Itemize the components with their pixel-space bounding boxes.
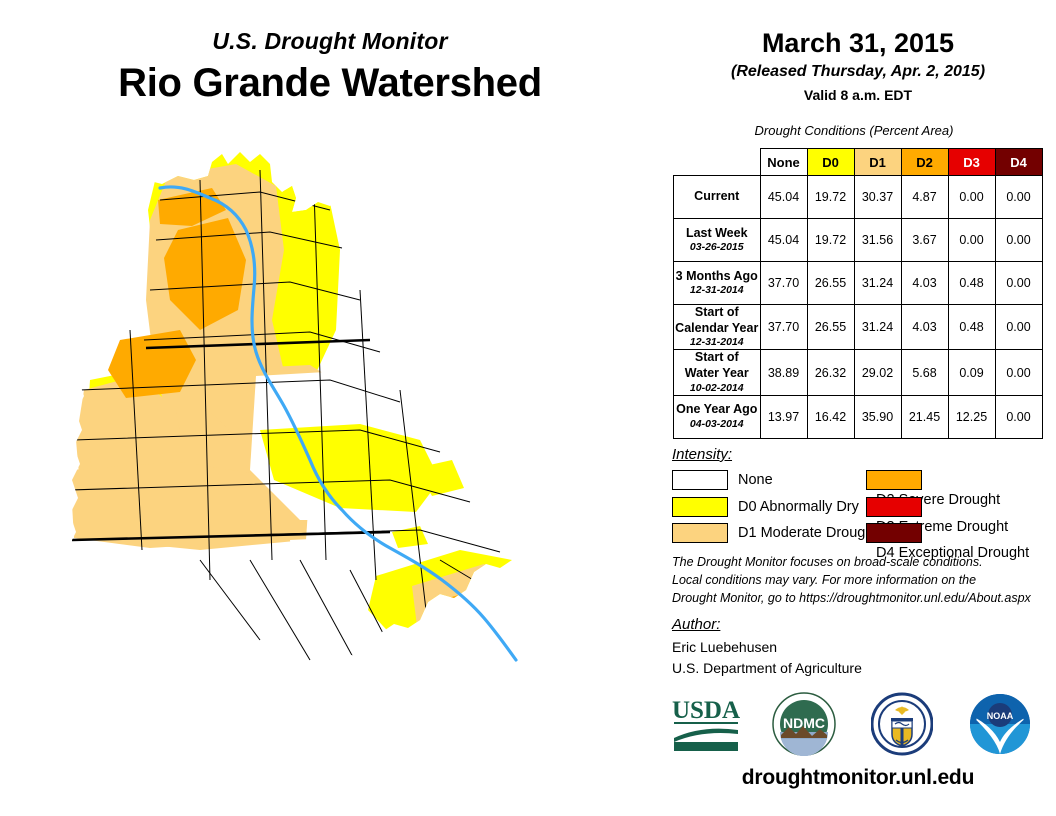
cell-d1: 31.56 xyxy=(854,219,901,262)
cell-none: 38.89 xyxy=(760,350,807,395)
site-url: droughtmonitor.unl.edu xyxy=(660,766,1056,790)
cell-d4: 0.00 xyxy=(995,262,1042,305)
cell-d3: 0.00 xyxy=(948,219,995,262)
cell-d3: 0.48 xyxy=(948,262,995,305)
agency-logos: USDA NDMC NOAA xyxy=(668,692,1056,758)
legend-swatch xyxy=(672,470,728,490)
row-sublabel: 10-02-2014 xyxy=(674,382,760,395)
disclaimer-line-3: Drought Monitor, go to https://droughtmo… xyxy=(672,590,1052,608)
cell-d1: 31.24 xyxy=(854,262,901,305)
legend-item-d3: D3 Extreme Drought xyxy=(866,497,1056,517)
valid-time: Valid 8 a.m. EDT xyxy=(660,87,1056,103)
legend-swatch xyxy=(866,470,922,490)
cell-d1: 30.37 xyxy=(854,176,901,219)
ndmc-logo: NDMC xyxy=(772,692,836,756)
cell-d4: 0.00 xyxy=(995,350,1042,395)
cell-d0: 26.55 xyxy=(807,262,854,305)
noaa-logo: NOAA xyxy=(966,692,1034,756)
cell-none: 37.70 xyxy=(760,305,807,350)
disclaimer-line-2: Local conditions may vary. For more info… xyxy=(672,572,1052,590)
cell-d3: 12.25 xyxy=(948,395,995,438)
legend-swatch xyxy=(672,523,728,543)
svg-text:NOAA: NOAA xyxy=(987,711,1014,721)
legend-item-d0: D0 Abnormally Dry xyxy=(672,497,859,517)
table-row: Current45.0419.7230.374.870.000.00 xyxy=(674,176,1043,219)
cell-d0: 19.72 xyxy=(807,219,854,262)
title-block: U.S. Drought Monitor Rio Grande Watershe… xyxy=(0,28,660,106)
rio-grande-watershed-drought-map xyxy=(60,140,620,810)
release-date: (Released Thursday, Apr. 2, 2015) xyxy=(660,63,1056,81)
cell-d3: 0.48 xyxy=(948,305,995,350)
cell-d2: 4.03 xyxy=(901,262,948,305)
legend-item-d1: D1 Moderate Drought xyxy=(672,523,877,543)
author-name: Eric Luebehusen xyxy=(672,637,862,658)
author-heading: Author: xyxy=(672,616,720,633)
table-header-row: NoneD0D1D2D3D4 xyxy=(674,149,1043,176)
row-sublabel: 03-26-2015 xyxy=(674,241,760,254)
report-header: March 31, 2015 (Released Thursday, Apr. … xyxy=(660,28,1056,103)
table-row: Start ofWater Year10-02-201438.8926.3229… xyxy=(674,350,1043,395)
table-col-header-d2: D2 xyxy=(901,149,948,176)
cell-d2: 4.87 xyxy=(901,176,948,219)
table-row: One Year Ago04-03-201413.9716.4235.9021.… xyxy=(674,395,1043,438)
table-caption: Drought Conditions (Percent Area) xyxy=(673,123,1035,138)
usdc-noaa-seal xyxy=(871,692,933,756)
legend-item-d2: D2 Severe Drought xyxy=(866,470,1056,490)
cell-d3: 0.09 xyxy=(948,350,995,395)
page-title: Rio Grande Watershed xyxy=(0,61,660,106)
row-sublabel: 12-31-2014 xyxy=(674,284,760,297)
table-corner-cell xyxy=(674,149,761,176)
row-label: Current xyxy=(674,176,761,219)
cell-d4: 0.00 xyxy=(995,176,1042,219)
table-row: 3 Months Ago12-31-201437.7026.5531.244.0… xyxy=(674,262,1043,305)
cell-d0: 16.42 xyxy=(807,395,854,438)
table-col-header-d1: D1 xyxy=(854,149,901,176)
intensity-heading: Intensity: xyxy=(672,446,732,463)
cell-d2: 3.67 xyxy=(901,219,948,262)
cell-d2: 21.45 xyxy=(901,395,948,438)
cell-none: 45.04 xyxy=(760,176,807,219)
svg-text:USDA: USDA xyxy=(672,697,740,724)
row-label: Last Week03-26-2015 xyxy=(674,219,761,262)
usda-logo: USDA xyxy=(668,692,744,754)
disclaimer-text: The Drought Monitor focuses on broad-sca… xyxy=(672,554,1052,607)
cell-d3: 0.00 xyxy=(948,176,995,219)
cell-none: 13.97 xyxy=(760,395,807,438)
cell-none: 37.70 xyxy=(760,262,807,305)
disclaimer-line-1: The Drought Monitor focuses on broad-sca… xyxy=(672,554,1052,572)
legend-label: D1 Moderate Drought xyxy=(738,523,877,543)
legend-label: None xyxy=(738,470,773,490)
table-col-header-none: None xyxy=(760,149,807,176)
cell-d2: 4.03 xyxy=(901,305,948,350)
legend-item-none: None xyxy=(672,470,773,490)
map-container xyxy=(60,140,620,810)
row-label: 3 Months Ago12-31-2014 xyxy=(674,262,761,305)
cell-d1: 35.90 xyxy=(854,395,901,438)
cell-none: 45.04 xyxy=(760,219,807,262)
row-label: Start ofCalendar Year12-31-2014 xyxy=(674,305,761,350)
legend-label: D0 Abnormally Dry xyxy=(738,497,859,517)
table-body: Current45.0419.7230.374.870.000.00Last W… xyxy=(674,176,1043,439)
table-row: Last Week03-26-201545.0419.7231.563.670.… xyxy=(674,219,1043,262)
cell-d4: 0.00 xyxy=(995,219,1042,262)
legend-item-d4: D4 Exceptional Drought xyxy=(866,523,1056,543)
svg-text:NDMC: NDMC xyxy=(783,715,825,731)
row-sublabel: 12-31-2014 xyxy=(674,336,760,349)
author-block: Eric Luebehusen U.S. Department of Agric… xyxy=(672,637,862,679)
cell-d0: 26.55 xyxy=(807,305,854,350)
row-label: One Year Ago04-03-2014 xyxy=(674,395,761,438)
legend-swatch xyxy=(866,497,922,517)
cell-d1: 29.02 xyxy=(854,350,901,395)
cell-d4: 0.00 xyxy=(995,305,1042,350)
cell-d0: 26.32 xyxy=(807,350,854,395)
usdm-subtitle: U.S. Drought Monitor xyxy=(0,28,660,55)
legend-swatch xyxy=(672,497,728,517)
table-row: Start ofCalendar Year12-31-201437.7026.5… xyxy=(674,305,1043,350)
report-date: March 31, 2015 xyxy=(660,28,1056,59)
cell-d0: 19.72 xyxy=(807,176,854,219)
row-sublabel: 04-03-2014 xyxy=(674,418,760,431)
legend-swatch xyxy=(866,523,922,543)
table-col-header-d4: D4 xyxy=(995,149,1042,176)
author-organization: U.S. Department of Agriculture xyxy=(672,658,862,679)
cell-d4: 0.00 xyxy=(995,395,1042,438)
cell-d2: 5.68 xyxy=(901,350,948,395)
cell-d1: 31.24 xyxy=(854,305,901,350)
table-col-header-d3: D3 xyxy=(948,149,995,176)
row-label: Start ofWater Year10-02-2014 xyxy=(674,350,761,395)
drought-conditions-table: NoneD0D1D2D3D4 Current45.0419.7230.374.8… xyxy=(673,148,1043,439)
table-col-header-d0: D0 xyxy=(807,149,854,176)
